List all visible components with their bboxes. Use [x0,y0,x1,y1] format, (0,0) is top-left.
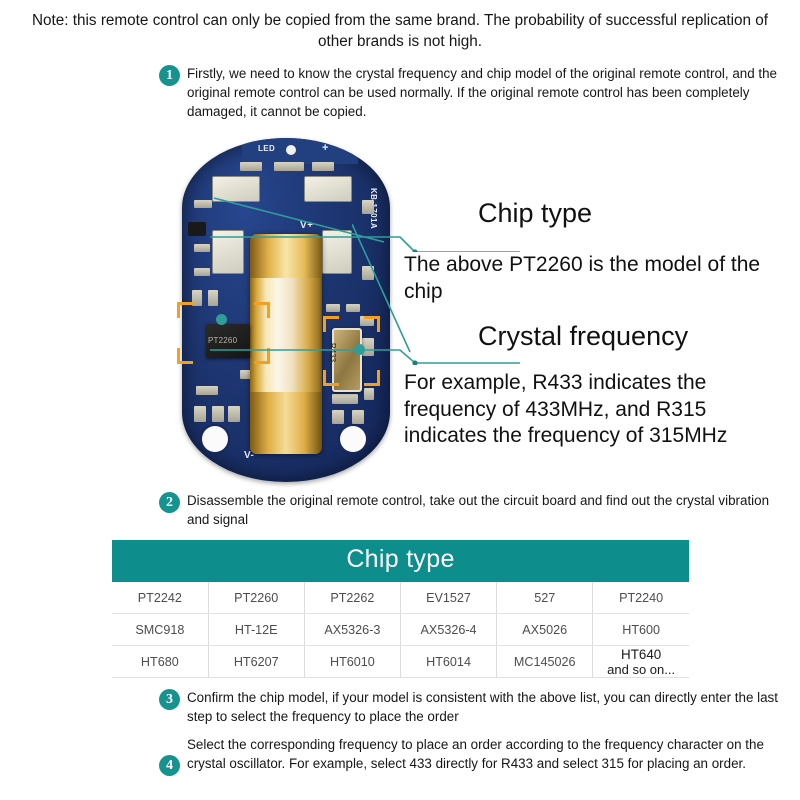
step-text-2: Disassemble the original remote control,… [187,491,779,529]
smd-component [194,244,210,252]
step-item-1: 1 Firstly, we need to know the crystal f… [159,64,779,122]
step-item-2: 2 Disassemble the original remote contro… [159,491,779,529]
smd-component [194,406,206,422]
table-header-row: Chip type [112,540,689,582]
callout-title-chip-type: Chip type [478,198,592,228]
callout-body-chip-type: The above PT2260 is the model of the chi… [404,252,784,305]
highlight-bracket-chip [177,348,193,364]
mounting-hole [202,426,228,452]
smd-component [192,290,202,306]
table-cell: AX5026 [497,614,593,646]
step-text-3: Confirm the chip model, if your model is… [187,688,779,726]
step-badge-4: 4 [159,755,180,776]
table-cell: PT2242 [112,582,208,614]
table-cell: AX5326-4 [400,614,496,646]
table-cell: PT2260 [208,582,304,614]
table-cell: AX5326-3 [304,614,400,646]
callout-title-crystal-frequency: Crystal frequency [478,321,688,351]
table-cell: PT2262 [304,582,400,614]
silk-plus-label: + [322,142,329,154]
step-text-1: Firstly, we need to know the crystal fre… [187,64,779,122]
callout-body-crystal-frequency: For example, R433 indicates the frequenc… [404,370,786,450]
smd-component [194,268,210,276]
smd-component [240,162,262,171]
smd-component [196,386,218,395]
step-badge-2: 2 [159,492,180,513]
transistor-component [188,222,206,236]
step-badge-3: 3 [159,689,180,710]
step-badge-1: 1 [159,65,180,86]
table-cell-and-so-on: HT640 and so on... [593,646,689,678]
silk-led-label: LED [258,144,275,153]
chip-type-table: Chip type PT2242 PT2260 PT2262 EV1527 52… [112,540,689,678]
table-cell-secondary: and so on... [593,662,689,677]
table-row: SMC918 HT-12E AX5326-3 AX5326-4 AX5026 H… [112,614,689,646]
smd-component [332,394,358,404]
highlight-bracket-crystal [364,370,380,386]
table-cell: SMC918 [112,614,208,646]
table-cell: 527 [497,582,593,614]
smd-component [228,406,240,422]
highlight-bracket-chip [177,302,193,318]
mounting-hole [340,426,366,452]
page-note: Note: this remote control can only be co… [28,10,772,52]
table-cell: EV1527 [400,582,496,614]
smd-component [332,410,344,424]
highlight-bracket-crystal [323,370,339,386]
table-cell: HT-12E [208,614,304,646]
table-cell: HT680 [112,646,208,678]
table-cell: HT6014 [400,646,496,678]
table-cell: PT2240 [593,582,689,614]
smd-component [352,410,364,424]
led-indicator-icon [286,145,296,155]
table-row: HT680 HT6207 HT6010 HT6014 MC145026 HT64… [112,646,689,678]
smd-component [212,406,224,422]
smd-component [274,162,304,171]
step-item-3: 3 Confirm the chip model, if your model … [159,688,779,726]
table-header-title: Chip type [112,540,689,582]
table-cell: HT600 [593,614,689,646]
table-cell: MC145026 [497,646,593,678]
table-row: PT2242 PT2260 PT2262 EV1527 527 PT2240 [112,582,689,614]
table-cell-primary: HT640 [621,647,661,662]
smd-component [208,290,218,306]
smd-component [364,388,374,400]
step-text-4: Select the corresponding frequency to pl… [187,735,779,773]
smd-component [312,162,334,171]
table-cell: HT6010 [304,646,400,678]
step-item-4: 4 Select the corresponding frequency to … [159,735,779,773]
table-cell: HT6207 [208,646,304,678]
